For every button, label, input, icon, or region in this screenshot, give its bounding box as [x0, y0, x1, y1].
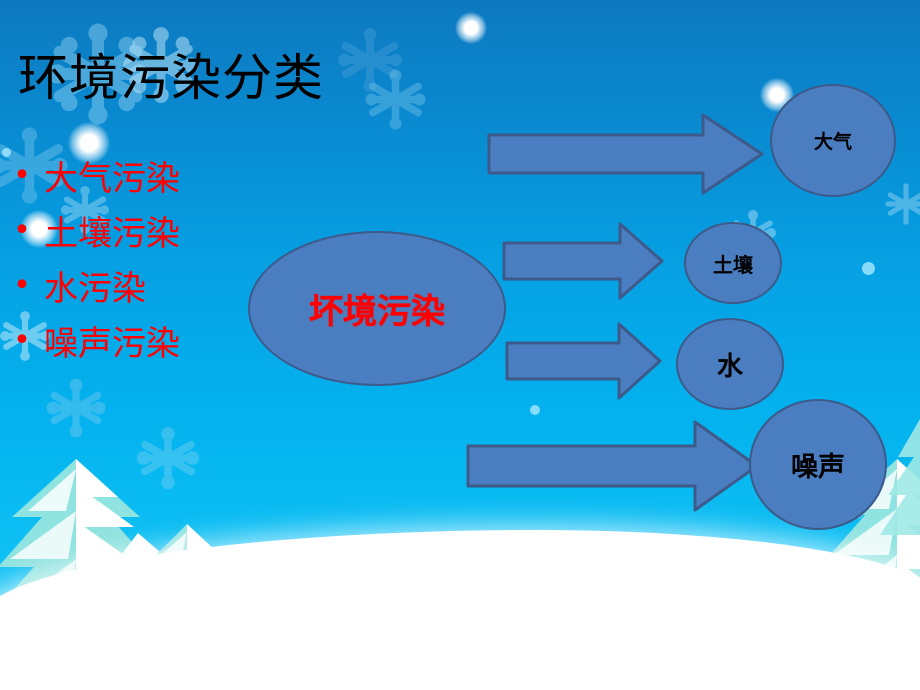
arrow-to-atmosphere — [487, 113, 764, 195]
snow-ground-front — [0, 530, 920, 690]
snowflake-left-lower-icon — [40, 372, 112, 444]
arrow-to-noise — [466, 420, 759, 512]
arrow-to-water — [505, 322, 662, 400]
snowflake-top-right-a-icon — [330, 20, 410, 100]
node-soil-label: 土壤 — [713, 249, 753, 278]
presentation-slide: 环境污染分类 • 大气污染 • 土壤污染 • 水污染 • 噪声污染 — [0, 0, 920, 690]
snowflake-bottom-left-icon — [130, 420, 206, 496]
bullet-dot-icon: • — [10, 271, 34, 301]
list-item: • 大气污染 — [10, 148, 280, 203]
node-water[interactable]: 水 — [676, 318, 784, 410]
bullet-label-soil-pollution: 土壤污染 — [34, 206, 180, 255]
bullet-dot-icon: • — [10, 326, 34, 356]
pine-tree-bottom-left-large-icon — [0, 455, 188, 670]
center-node-environment-pollution[interactable]: 坏境污染 — [248, 231, 506, 386]
snow-dot-7 — [436, 575, 447, 586]
snow-dot-2 — [455, 12, 487, 44]
bullet-dot-icon: • — [10, 161, 34, 191]
snow-dot-5 — [862, 262, 875, 275]
snow-dot-6 — [530, 405, 540, 415]
center-node-label: 坏境污染 — [309, 284, 445, 333]
node-atmosphere-label: 大气 — [814, 127, 852, 154]
bullet-list: • 大气污染 • 土壤污染 • 水污染 • 噪声污染 — [10, 148, 280, 368]
list-item: • 土壤污染 — [10, 203, 280, 258]
bullet-dot-icon: • — [10, 216, 34, 246]
snow-dot-8 — [663, 548, 671, 556]
bullet-label-air-pollution: 大气污染 — [34, 151, 180, 200]
snow-ground-back — [0, 575, 920, 690]
snow-dot-10 — [95, 550, 108, 563]
page-title: 环境污染分类 — [18, 52, 324, 105]
pine-tree-bottom-right-small-icon — [725, 540, 845, 665]
arrow-to-soil — [502, 222, 664, 300]
list-item: • 噪声污染 — [10, 313, 280, 368]
node-soil[interactable]: 土壤 — [684, 222, 782, 304]
node-atmosphere[interactable]: 大气 — [770, 84, 896, 197]
pine-tree-bottom-left-small-icon — [115, 520, 260, 670]
node-water-label: 水 — [717, 346, 743, 383]
bullet-label-water-pollution: 水污染 — [34, 261, 146, 310]
snowflake-right-edge-icon — [880, 178, 920, 230]
snow-dot-9 — [894, 575, 910, 591]
bullet-label-noise-pollution: 噪声污染 — [34, 316, 180, 365]
node-noise[interactable]: 噪声 — [749, 399, 887, 530]
node-noise-label: 噪声 — [791, 445, 845, 484]
pine-tree-far-right-icon — [880, 415, 920, 555]
list-item: • 水污染 — [10, 258, 280, 313]
snowflake-top-right-b-icon — [358, 62, 433, 137]
